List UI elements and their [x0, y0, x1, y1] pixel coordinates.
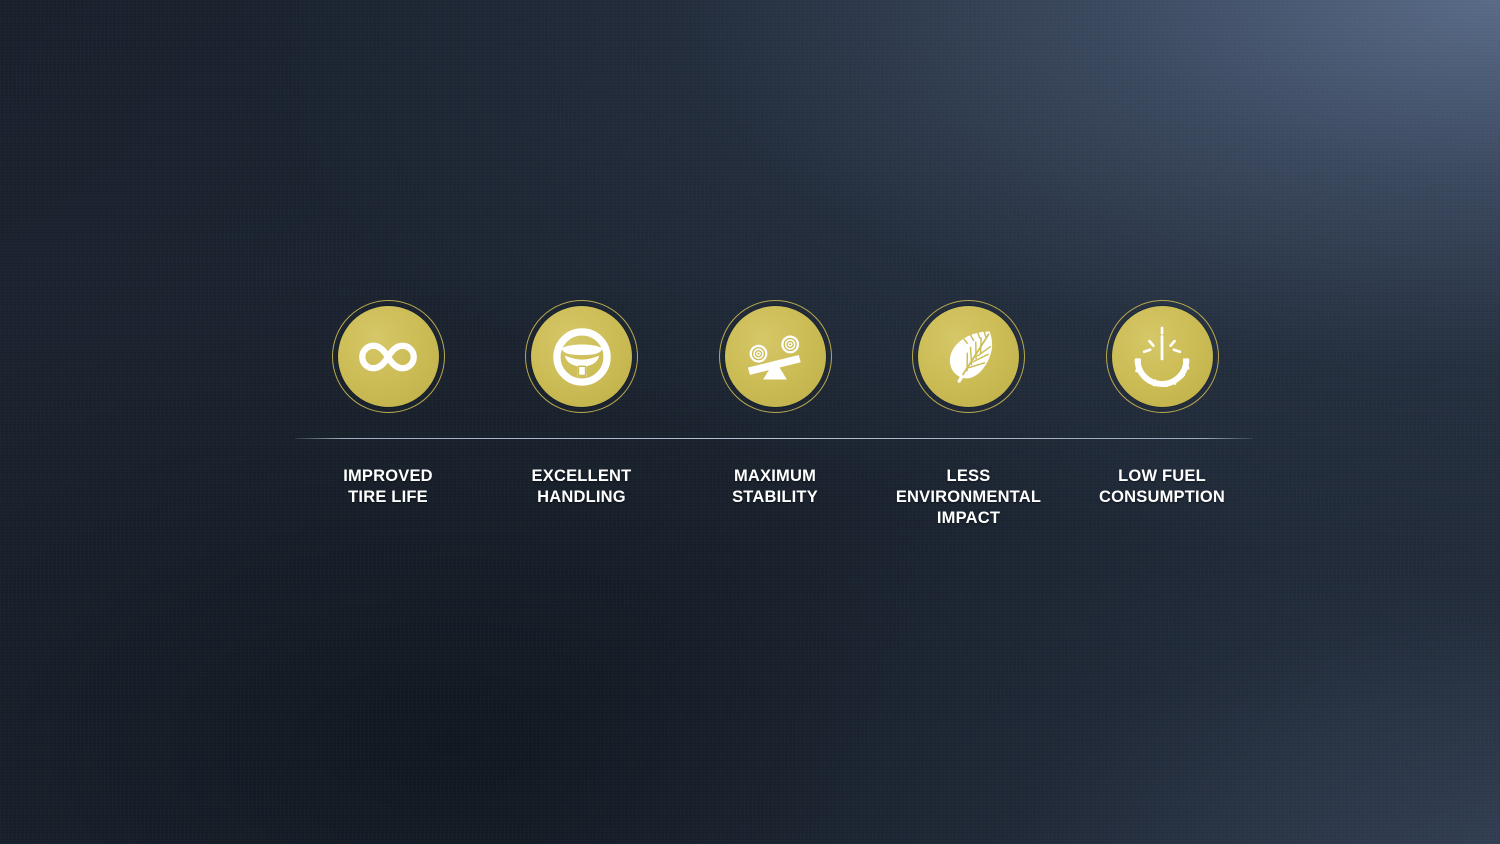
feature-badge[interactable] — [525, 300, 638, 413]
feature-label-low-fuel-consumption: LOW FUEL CONSUMPTION — [1069, 466, 1255, 508]
balance-scale-icon — [742, 324, 808, 390]
infinity-icon — [355, 324, 421, 390]
feature-label-excellent-handling: EXCELLENT HANDLING — [489, 466, 675, 508]
leaf-icon — [936, 324, 1002, 390]
gauge-gear-icon — [1129, 324, 1195, 390]
feature-badge[interactable] — [332, 300, 445, 413]
feature-item-maximum-stability[interactable] — [682, 300, 868, 413]
feature-badge[interactable] — [719, 300, 832, 413]
feature-item-excellent-handling[interactable] — [489, 300, 675, 413]
feature-label-improved-tire-life: IMPROVED TIRE LIFE — [295, 466, 481, 508]
feature-badge[interactable] — [912, 300, 1025, 413]
feature-labels-row: IMPROVED TIRE LIFE EXCELLENT HANDLING MA… — [295, 466, 1255, 529]
feature-badge[interactable] — [1106, 300, 1219, 413]
feature-item-low-fuel-consumption[interactable] — [1069, 300, 1255, 413]
feature-label-maximum-stability: MAXIMUM STABILITY — [682, 466, 868, 508]
features-section: IMPROVED TIRE LIFE EXCELLENT HANDLING MA… — [295, 300, 1255, 529]
divider-line — [295, 438, 1253, 439]
feature-icons-row — [295, 300, 1255, 413]
feature-item-less-environmental-impact[interactable] — [876, 300, 1062, 413]
feature-label-less-environmental-impact: LESS ENVIRONMENTAL IMPACT — [876, 466, 1062, 529]
feature-item-improved-tire-life[interactable] — [295, 300, 481, 413]
steering-wheel-icon — [549, 324, 615, 390]
